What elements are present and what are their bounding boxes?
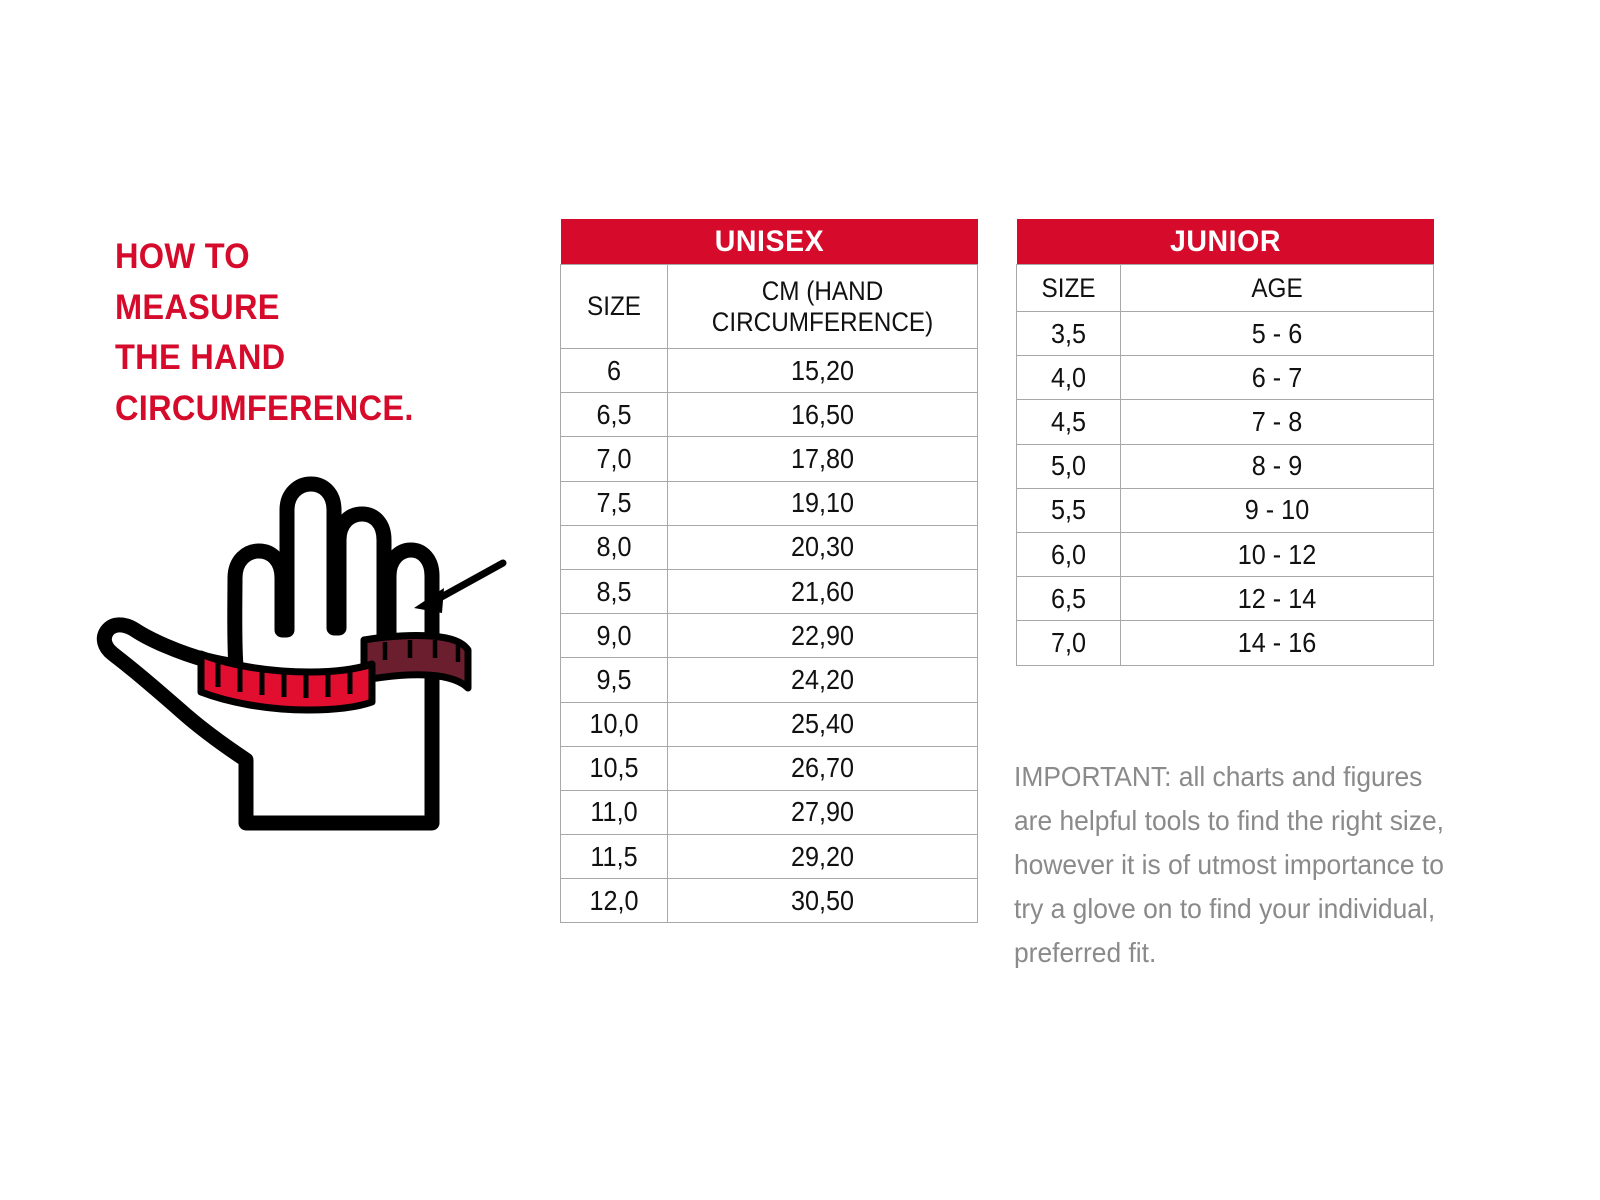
important-note-line-4: try a glove on to find your individual, <box>1014 887 1494 931</box>
unisex-size-table: UNISEX SIZE CM (HAND CIRCUMFERENCE) 615,… <box>560 219 978 923</box>
junior-size-value: 4,0 <box>1022 362 1115 394</box>
table-row: 4,57 - 8 <box>1017 400 1434 444</box>
unisex-size-cell: 6,5 <box>561 393 668 437</box>
table-row: 4,06 - 7 <box>1017 356 1434 400</box>
junior-age-cell: 12 - 14 <box>1121 577 1434 621</box>
page-title-line-1: HOW TO <box>115 232 487 283</box>
junior-banner-label: JUNIOR <box>1027 225 1423 259</box>
junior-age-cell: 10 - 12 <box>1121 532 1434 576</box>
junior-size-cell: 5,5 <box>1017 488 1121 532</box>
junior-size-value: 6,0 <box>1022 539 1115 571</box>
unisex-size-cell: 6 <box>561 349 668 393</box>
unisex-size-cell: 7,5 <box>561 481 668 525</box>
junior-table-body: 3,55 - 6 4,06 - 7 4,57 - 8 5,08 - 9 5,59… <box>1017 312 1434 666</box>
junior-column-header-row: SIZE AGE <box>1017 265 1434 312</box>
table-row: 5,08 - 9 <box>1017 444 1434 488</box>
unisex-banner-label: UNISEX <box>571 225 967 259</box>
unisex-size-value: 11,5 <box>566 841 661 873</box>
unisex-cm-cell: 24,20 <box>668 658 978 702</box>
table-row: 6,516,50 <box>561 393 978 437</box>
unisex-cm-cell: 30,50 <box>668 879 978 923</box>
unisex-size-cell: 11,0 <box>561 790 668 834</box>
unisex-size-value: 6 <box>566 355 661 387</box>
junior-age-value: 7 - 8 <box>1137 406 1418 438</box>
table-row: 11,027,90 <box>561 790 978 834</box>
important-note: IMPORTANT: all charts and figures are he… <box>1014 755 1514 975</box>
unisex-cm-value: 22,90 <box>683 620 961 652</box>
unisex-col-header-size-label: SIZE <box>566 291 661 322</box>
junior-size-cell: 4,5 <box>1017 400 1121 444</box>
junior-age-cell: 8 - 9 <box>1121 444 1434 488</box>
page-title-line-4: CIRCUMFERENCE. <box>115 384 487 435</box>
table-row: 8,020,30 <box>561 525 978 569</box>
unisex-col-header-cm: CM (HAND CIRCUMFERENCE) <box>668 265 978 349</box>
junior-col-header-age: AGE <box>1121 265 1434 312</box>
junior-size-value: 5,5 <box>1022 494 1115 526</box>
unisex-cm-cell: 20,30 <box>668 525 978 569</box>
unisex-size-cell: 11,5 <box>561 835 668 879</box>
unisex-cm-cell: 17,80 <box>668 437 978 481</box>
open-hand-with-measuring-tape-illustration <box>88 448 518 838</box>
unisex-cm-value: 16,50 <box>683 399 961 431</box>
junior-col-header-size: SIZE <box>1017 265 1121 312</box>
junior-size-value: 7,0 <box>1022 627 1115 659</box>
junior-size-value: 3,5 <box>1022 318 1115 350</box>
unisex-cm-value: 15,20 <box>683 355 961 387</box>
junior-size-cell: 3,5 <box>1017 312 1121 356</box>
unisex-col-header-size: SIZE <box>561 265 668 349</box>
junior-age-value: 5 - 6 <box>1137 318 1418 350</box>
unisex-cm-value: 30,50 <box>683 885 961 917</box>
unisex-size-value: 9,0 <box>566 620 661 652</box>
junior-size-table: JUNIOR SIZE AGE 3,55 - 6 4,06 - 7 4,57 -… <box>1016 219 1434 666</box>
unisex-col-header-cm-line-2: CIRCUMFERENCE) <box>683 307 961 338</box>
unisex-size-cell: 10,5 <box>561 746 668 790</box>
unisex-cm-cell: 25,40 <box>668 702 978 746</box>
size-chart-page: HOW TO MEASURE THE HAND CIRCUMFERENCE. <box>0 0 1600 1200</box>
junior-size-cell: 7,0 <box>1017 621 1121 665</box>
unisex-size-cell: 8,0 <box>561 525 668 569</box>
table-row: 7,519,10 <box>561 481 978 525</box>
unisex-banner: UNISEX <box>561 219 978 265</box>
unisex-size-value: 6,5 <box>566 399 661 431</box>
junior-age-value: 14 - 16 <box>1137 627 1418 659</box>
unisex-size-value: 7,0 <box>566 443 661 475</box>
junior-size-value: 5,0 <box>1022 450 1115 482</box>
table-row: 7,017,80 <box>561 437 978 481</box>
junior-col-header-age-label: AGE <box>1137 273 1418 304</box>
junior-age-cell: 5 - 6 <box>1121 312 1434 356</box>
table-row: 6,512 - 14 <box>1017 577 1434 621</box>
junior-size-value: 4,5 <box>1022 406 1115 438</box>
table-row: 9,524,20 <box>561 658 978 702</box>
junior-size-value: 6,5 <box>1022 583 1115 615</box>
unisex-size-cell: 10,0 <box>561 702 668 746</box>
unisex-size-value: 11,0 <box>566 796 661 828</box>
table-row: 5,59 - 10 <box>1017 488 1434 532</box>
junior-age-value: 9 - 10 <box>1137 494 1418 526</box>
unisex-cm-value: 21,60 <box>683 576 961 608</box>
unisex-cm-cell: 27,90 <box>668 790 978 834</box>
table-row: 9,022,90 <box>561 614 978 658</box>
junior-size-cell: 4,0 <box>1017 356 1121 400</box>
unisex-size-value: 7,5 <box>566 487 661 519</box>
unisex-size-value: 9,5 <box>566 664 661 696</box>
junior-age-cell: 6 - 7 <box>1121 356 1434 400</box>
junior-age-cell: 7 - 8 <box>1121 400 1434 444</box>
junior-size-cell: 6,0 <box>1017 532 1121 576</box>
unisex-size-cell: 9,0 <box>561 614 668 658</box>
unisex-table-body: 615,20 6,516,50 7,017,80 7,519,10 8,020,… <box>561 349 978 923</box>
unisex-col-header-cm-line-1: CM (HAND <box>683 276 961 307</box>
junior-age-cell: 14 - 16 <box>1121 621 1434 665</box>
unisex-cm-value: 26,70 <box>683 752 961 784</box>
table-row: 11,529,20 <box>561 835 978 879</box>
unisex-size-value: 8,5 <box>566 576 661 608</box>
table-row: 10,526,70 <box>561 746 978 790</box>
junior-age-value: 10 - 12 <box>1137 539 1418 571</box>
junior-banner-row: JUNIOR <box>1017 219 1434 265</box>
table-row: 10,025,40 <box>561 702 978 746</box>
junior-banner: JUNIOR <box>1017 219 1434 265</box>
unisex-cm-cell: 29,20 <box>668 835 978 879</box>
important-note-line-5: preferred fit. <box>1014 931 1494 975</box>
unisex-cm-value: 25,40 <box>683 708 961 740</box>
unisex-size-value: 12,0 <box>566 885 661 917</box>
unisex-cm-value: 17,80 <box>683 443 961 475</box>
unisex-banner-row: UNISEX <box>561 219 978 265</box>
table-row: 3,55 - 6 <box>1017 312 1434 356</box>
unisex-cm-value: 29,20 <box>683 841 961 873</box>
page-title: HOW TO MEASURE THE HAND CIRCUMFERENCE. <box>115 232 487 434</box>
unisex-size-value: 10,0 <box>566 708 661 740</box>
important-note-line-2: are helpful tools to find the right size… <box>1014 799 1494 843</box>
table-row: 615,20 <box>561 349 978 393</box>
junior-age-cell: 9 - 10 <box>1121 488 1434 532</box>
unisex-cm-cell: 21,60 <box>668 569 978 613</box>
unisex-size-cell: 9,5 <box>561 658 668 702</box>
unisex-size-value: 8,0 <box>566 531 661 563</box>
unisex-cm-cell: 26,70 <box>668 746 978 790</box>
unisex-cm-cell: 16,50 <box>668 393 978 437</box>
unisex-cm-cell: 22,90 <box>668 614 978 658</box>
unisex-cm-value: 27,90 <box>683 796 961 828</box>
junior-age-value: 8 - 9 <box>1137 450 1418 482</box>
junior-age-value: 12 - 14 <box>1137 583 1418 615</box>
table-row: 7,014 - 16 <box>1017 621 1434 665</box>
unisex-cm-value: 24,20 <box>683 664 961 696</box>
unisex-cm-value: 20,30 <box>683 531 961 563</box>
junior-age-value: 6 - 7 <box>1137 362 1418 394</box>
page-title-line-3: THE HAND <box>115 333 487 384</box>
unisex-column-header-row: SIZE CM (HAND CIRCUMFERENCE) <box>561 265 978 349</box>
unisex-cm-value: 19,10 <box>683 487 961 519</box>
important-note-line-1: IMPORTANT: all charts and figures <box>1014 755 1494 799</box>
junior-size-cell: 6,5 <box>1017 577 1121 621</box>
unisex-size-cell: 7,0 <box>561 437 668 481</box>
table-row: 8,521,60 <box>561 569 978 613</box>
junior-col-header-size-label: SIZE <box>1022 273 1115 304</box>
junior-size-cell: 5,0 <box>1017 444 1121 488</box>
table-row: 12,030,50 <box>561 879 978 923</box>
unisex-size-cell: 12,0 <box>561 879 668 923</box>
table-row: 6,010 - 12 <box>1017 532 1434 576</box>
unisex-size-cell: 8,5 <box>561 569 668 613</box>
unisex-cm-cell: 15,20 <box>668 349 978 393</box>
page-title-line-2: MEASURE <box>115 283 487 334</box>
unisex-cm-cell: 19,10 <box>668 481 978 525</box>
important-note-line-3: however it is of utmost importance to <box>1014 843 1494 887</box>
unisex-size-value: 10,5 <box>566 752 661 784</box>
